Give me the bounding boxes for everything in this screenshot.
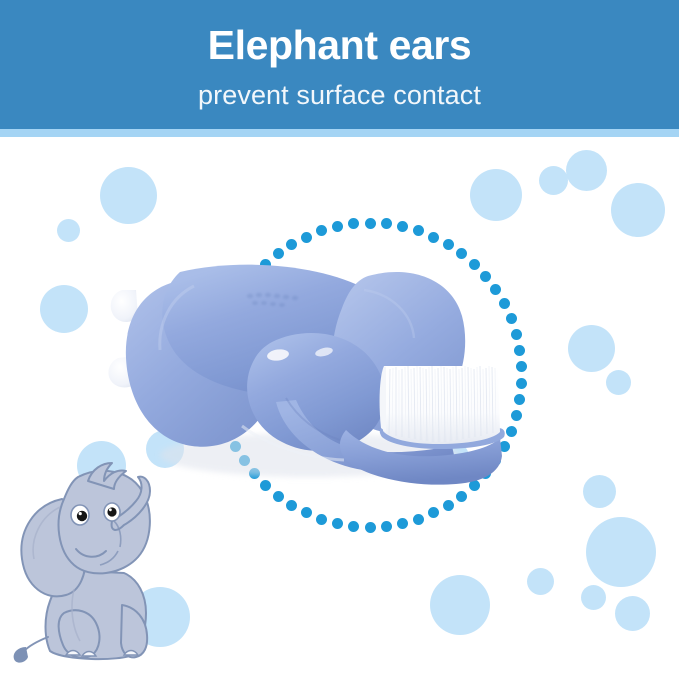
page-subtitle: prevent surface contact [0, 79, 679, 111]
ring-dot [413, 225, 424, 236]
bubble-22 [581, 585, 606, 610]
bubble-2 [40, 285, 88, 333]
baby-elephant-mascot [4, 455, 189, 677]
ring-dot [301, 507, 312, 518]
mascot-tail-tip [14, 647, 28, 663]
bubble-17 [583, 475, 616, 508]
ring-dot [286, 239, 297, 250]
ring-dot [365, 218, 376, 229]
bubble-0 [100, 167, 157, 224]
header-banner: Elephant ears prevent surface contact [0, 0, 679, 129]
mascot-tail [24, 637, 48, 651]
bubble-12 [606, 370, 631, 395]
bubble-1 [57, 219, 80, 242]
ring-dot [316, 514, 327, 525]
ring-dot [365, 522, 376, 533]
ring-dot [332, 221, 343, 232]
product-infographic: Elephant ears prevent surface contact [0, 0, 679, 679]
page-title: Elephant ears [0, 23, 679, 67]
bubble-9 [566, 150, 607, 191]
toothbrush-bristles [380, 366, 500, 444]
ring-dot [397, 518, 408, 529]
bubble-13 [586, 517, 656, 587]
bubble-19 [527, 568, 554, 595]
ring-dot [428, 507, 439, 518]
ring-dot [286, 500, 297, 511]
ring-dot [348, 218, 359, 229]
bubble-10 [611, 183, 665, 237]
ring-dot [301, 232, 312, 243]
ring-dot [316, 225, 327, 236]
bubble-21 [430, 575, 490, 635]
ring-dot [381, 218, 392, 229]
banner-underline-strip [0, 129, 679, 137]
ring-dot [397, 221, 408, 232]
bubble-8 [539, 166, 568, 195]
ring-dot [348, 521, 359, 532]
ring-dot [428, 232, 439, 243]
ring-dot [443, 500, 454, 511]
ring-dot [332, 518, 343, 529]
bubble-11 [568, 325, 615, 372]
bubble-7 [470, 169, 522, 221]
ring-dot [381, 521, 392, 532]
bubble-23 [615, 596, 650, 631]
ring-dot [413, 514, 424, 525]
ring-dot [443, 239, 454, 250]
